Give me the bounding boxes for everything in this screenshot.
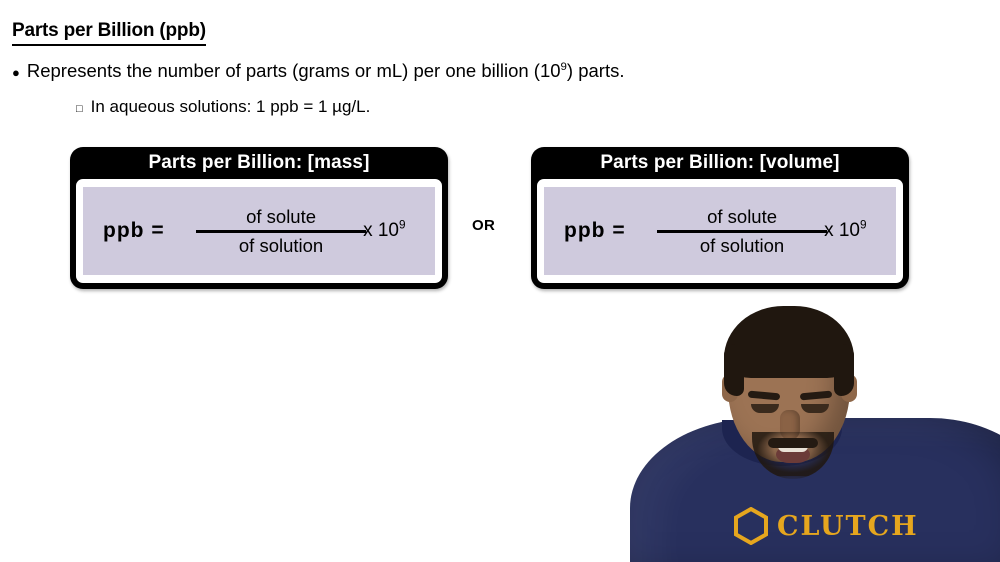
formula-card-volume-body: ppb = of solute of solution x 109: [544, 187, 896, 275]
instructor-hair-side-right: [834, 344, 854, 396]
formula-card-mass-inner: ppb = of solute of solution x 109: [76, 179, 442, 283]
formula-volume-fraction-bar: [657, 230, 827, 233]
formula-mass-multiplier-exponent: 9: [399, 219, 406, 232]
formula-volume-multiplier-exponent: 9: [860, 219, 867, 232]
instructor-mustache: [768, 438, 818, 448]
formula-mass-fraction-wrap: of solute of solution x 109: [173, 206, 429, 257]
formula-card-volume: Parts per Billion: [volume] ppb = of sol…: [531, 147, 909, 289]
formula-mass-multiplier: x 109: [363, 220, 405, 242]
clutch-brand-logo: CLUTCH: [734, 507, 919, 545]
formula-card-mass-body: ppb = of solute of solution x 109: [83, 187, 435, 275]
formula-mass-multiplier-text: x 10: [363, 220, 399, 241]
formula-volume-lhs: ppb =: [564, 219, 626, 243]
formula-card-mass: Parts per Billion: [mass] ppb = of solut…: [70, 147, 448, 289]
formula-mass-denominator: of solution: [233, 235, 329, 257]
bullet-primary-text: Represents the number of parts (grams or…: [27, 60, 625, 82]
bullet-square-icon: □: [76, 104, 83, 115]
formula-mass-numerator: of solute: [240, 206, 322, 228]
formula-mass-fraction: of solute of solution: [196, 206, 366, 257]
bullet-dot-icon: ●: [12, 66, 20, 79]
instructor-figure: CLUTCH: [460, 300, 1000, 562]
formula-mass-fraction-bar: [196, 230, 366, 233]
formula-volume-fraction: of solute of solution: [657, 206, 827, 257]
formula-volume-numerator: of solute: [701, 206, 783, 228]
clutch-wordmark: CLUTCH: [777, 513, 919, 540]
formula-card-volume-title: Parts per Billion: [volume]: [537, 147, 903, 179]
instructor-hair-side-left: [724, 344, 744, 396]
formula-mass-lhs: ppb =: [103, 219, 165, 243]
bullet-secondary-text: In aqueous solutions: 1 ppb = 1 µg/L.: [91, 97, 371, 117]
bullet-primary-text-after: ) parts.: [567, 60, 625, 81]
instructor-video-overlay[interactable]: CLUTCH: [460, 300, 1000, 562]
bullet-item-primary: ● Represents the number of parts (grams …: [12, 60, 625, 82]
formula-volume-denominator: of solution: [694, 235, 790, 257]
hexagon-icon: [734, 507, 768, 545]
formula-volume-multiplier-text: x 10: [824, 220, 860, 241]
formula-card-volume-inner: ppb = of solute of solution x 109: [537, 179, 903, 283]
bullet-item-secondary: □ In aqueous solutions: 1 ppb = 1 µg/L.: [76, 97, 370, 117]
or-separator-label: OR: [472, 217, 495, 234]
formula-volume-fraction-wrap: of solute of solution x 109: [634, 206, 890, 257]
formula-card-mass-title: Parts per Billion: [mass]: [76, 147, 442, 179]
formula-volume-multiplier: x 109: [824, 220, 866, 242]
page-title: Parts per Billion (ppb): [12, 20, 206, 46]
bullet-primary-text-before: Represents the number of parts (grams or…: [27, 60, 561, 81]
